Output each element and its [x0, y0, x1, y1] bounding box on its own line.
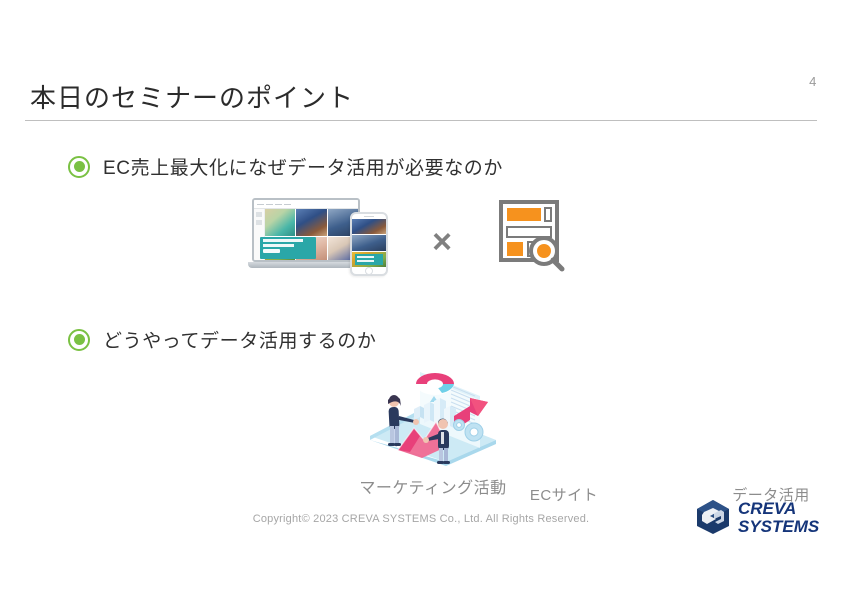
- figure-row-ec-x-data: × ECサイト データ活用: [240, 196, 600, 311]
- laptop-screen: [252, 198, 360, 262]
- laptop-icon: [248, 198, 364, 268]
- page-title: 本日のセミナーのポイント: [30, 78, 354, 115]
- bullet-item-1: EC売上最大化になぜデータ活用が必要なのか: [68, 153, 503, 180]
- logo-wordmark: CREVA SYSTEMS: [738, 500, 819, 535]
- page-number: 4: [798, 74, 828, 89]
- phone-screen: [352, 219, 386, 267]
- ec-site-page: [254, 209, 358, 262]
- slide-canvas: 4 本日のセミナーのポイント EC売上最大化になぜデータ活用が必要なのか: [0, 0, 842, 595]
- promo-banner-card: [260, 237, 316, 259]
- radio-filled-green-icon: [68, 329, 90, 351]
- creva-hexagon-cube-logo-icon: [694, 499, 732, 535]
- phone-promo-banner: [355, 254, 383, 265]
- isometric-marketing-analytics-illustration: [358, 362, 508, 466]
- creva-systems-logo: CREVA SYSTEMS: [694, 498, 832, 536]
- laptop-phone-ecommerce-illustration: [248, 196, 388, 278]
- browser-toolbar: [254, 200, 358, 209]
- laptop-base: [248, 262, 364, 268]
- bullet-item-2-label: どうやってデータ活用するのか: [103, 326, 376, 353]
- multiply-symbol: ×: [422, 222, 462, 262]
- radio-filled-green-icon: [68, 156, 90, 178]
- caption-marketing-activity: マーケティング活動: [333, 474, 533, 498]
- bullet-item-1-label: EC売上最大化になぜデータ活用が必要なのか: [103, 153, 503, 180]
- logo-line-1: CREVA: [738, 500, 819, 517]
- bullet-item-2: どうやってデータ活用するのか: [68, 326, 376, 353]
- smartphone-icon: [350, 212, 388, 276]
- logo-line-2: SYSTEMS: [738, 518, 819, 535]
- dashboard-magnifier-icon: [495, 198, 567, 276]
- phone-home-button: [352, 267, 386, 274]
- title-divider: [25, 120, 817, 121]
